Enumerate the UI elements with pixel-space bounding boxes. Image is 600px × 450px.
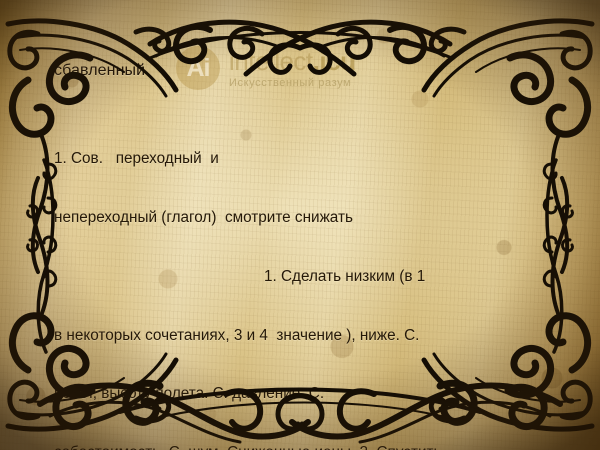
slide-canvas: сбавленный 1. Сов. переходный и неперехо… (0, 0, 600, 450)
definition-line: 1. Сов. переходный и (54, 149, 538, 169)
definition-line: в некоторых сочетаниях, 3 и 4 значение )… (54, 326, 538, 346)
definition-line: 1. Сделать низким (в 1 (54, 267, 538, 287)
definition-line: непереходный (глагол) смотрите снижать (54, 208, 538, 228)
definition-text-block: 1. Сов. переходный и непереходный (глаго… (54, 110, 538, 450)
definition-line: полет, высоту полета. С. давление. С. (54, 384, 538, 404)
definition-content: сбавленный 1. Сов. переходный и неперехо… (0, 0, 600, 450)
headword-title: сбавленный (54, 62, 145, 80)
definition-line: себестоимость. С. шум. Сниженные иены. 2… (54, 443, 538, 450)
